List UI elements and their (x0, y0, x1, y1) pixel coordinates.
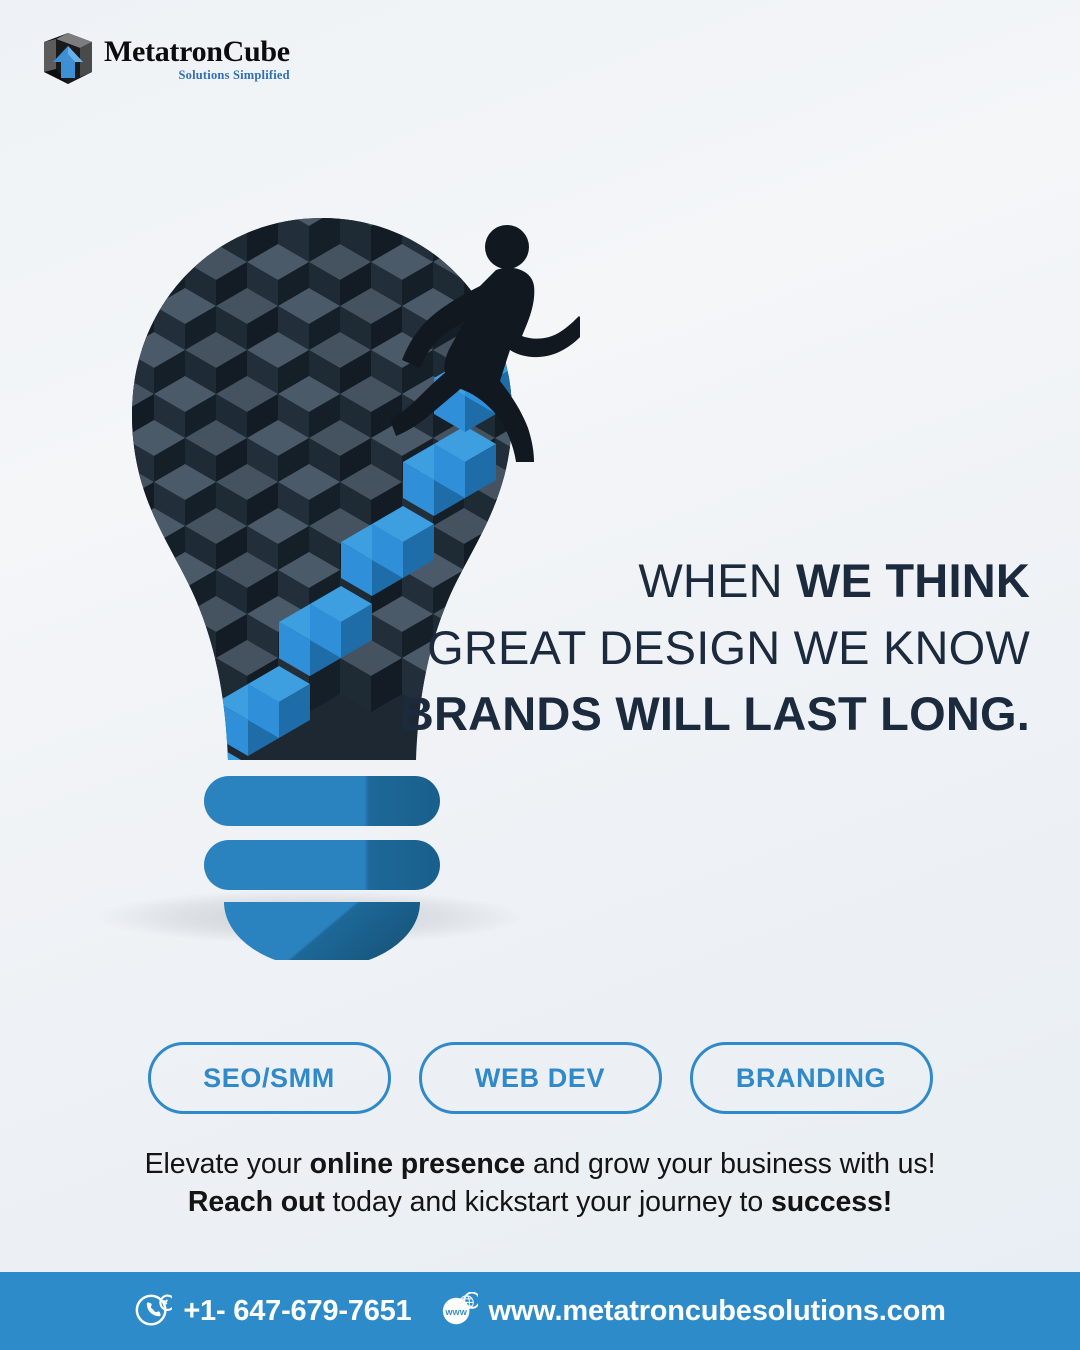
isometric-cube-arrow-logo-icon (42, 32, 94, 86)
tagline-l2-bold-a: Reach out (188, 1186, 325, 1218)
headline-block: WHEN WE THINK GREAT DESIGN WE KNOW BRAND… (390, 548, 1030, 748)
brand-name: MetatronCube (104, 37, 290, 67)
poster-canvas: MetatronCube Solutions Simplified (0, 0, 1080, 1350)
service-pill-web-dev[interactable]: WEB DEV (419, 1042, 662, 1114)
service-pill-group: SEO/SMM WEB DEV BRANDING (0, 1042, 1080, 1114)
headline-line-1-bold: WE THINK (796, 554, 1030, 607)
service-pill-seo-smm[interactable]: SEO/SMM (148, 1042, 391, 1114)
footer-website-text: www.metatroncubesolutions.com (489, 1295, 946, 1328)
tagline-line-2: Reach out today and kickstart your journ… (0, 1184, 1080, 1222)
call-to-action-tagline: Elevate your online presence and grow yo… (0, 1146, 1080, 1221)
tagline-l1-c: and grow your business with us! (525, 1148, 935, 1180)
svg-text:WWW: WWW (445, 1308, 467, 1317)
footer-contact-bar: +1- 647-679-7651 WWW www.metatroncubesol… (0, 1272, 1080, 1350)
www-globe-icon: WWW (440, 1292, 478, 1330)
headline-line-3: BRANDS WILL LAST LONG. (390, 681, 1030, 748)
tagline-l1-a: Elevate your (145, 1148, 310, 1180)
headline-line-1: WHEN WE THINK (390, 548, 1030, 615)
tagline-l2-b: today and kickstart your journey to (325, 1186, 771, 1218)
tagline-line-1: Elevate your online presence and grow yo… (0, 1146, 1080, 1184)
headline-line-2: GREAT DESIGN WE KNOW (390, 615, 1030, 682)
bulb-base (204, 776, 440, 960)
footer-website[interactable]: WWW www.metatroncubesolutions.com (440, 1292, 946, 1330)
footer-phone[interactable]: +1- 647-679-7651 (134, 1292, 411, 1330)
footer-phone-text: +1- 647-679-7651 (183, 1295, 411, 1328)
tagline-l1-bold: online presence (310, 1148, 526, 1180)
brand-text-block: MetatronCube Solutions Simplified (104, 37, 290, 82)
brand-tagline: Solutions Simplified (104, 69, 290, 82)
headline-line-1-plain: WHEN (638, 554, 796, 607)
tagline-l2-bold-c: success! (771, 1186, 892, 1218)
brand-logo[interactable]: MetatronCube Solutions Simplified (42, 32, 290, 86)
service-pill-branding[interactable]: BRANDING (690, 1042, 933, 1114)
incoming-call-phone-icon (134, 1292, 172, 1330)
